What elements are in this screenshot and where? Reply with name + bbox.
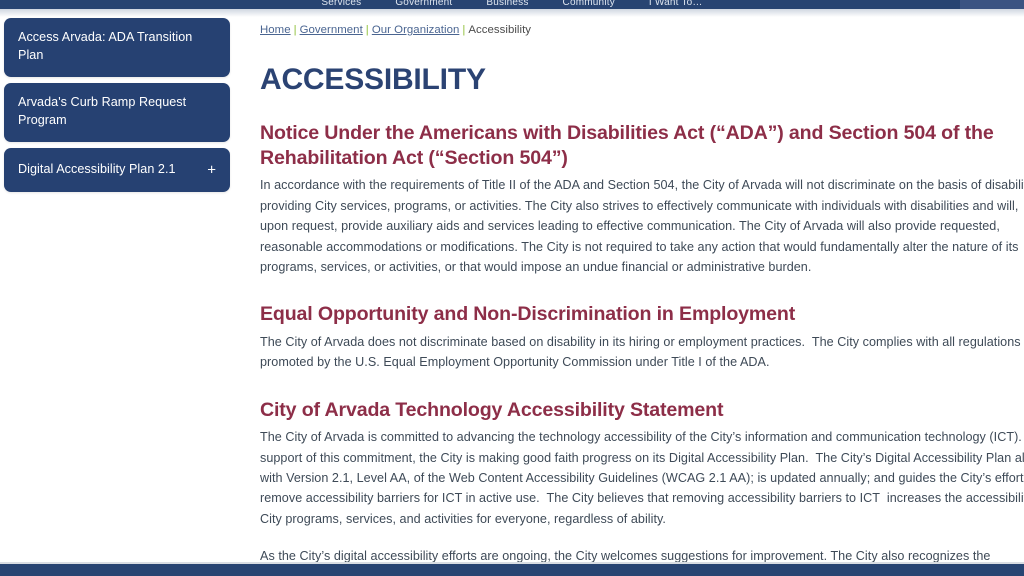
sidebar: Access Arvada: ADA Transition Plan Arvad…	[4, 18, 230, 198]
sidebar-item-label: Digital Accessibility Plan 2.1	[18, 161, 216, 179]
page-title: ACCESSIBILITY	[260, 64, 1024, 96]
section-paragraph-ada-notice: In accordance with the requirements of T…	[260, 175, 1024, 277]
section-paragraph-equal-opportunity: The City of Arvada does not discriminate…	[260, 332, 1024, 373]
topnav-shadow	[0, 9, 1024, 17]
sidebar-item-digital-accessibility-plan[interactable]: Digital Accessibility Plan 2.1 +	[4, 148, 230, 193]
section-heading-ada-notice: Notice Under the Americans with Disabili…	[260, 121, 1024, 172]
plus-icon[interactable]: +	[207, 162, 216, 177]
breadcrumb-item-current: Accessibility	[468, 24, 531, 36]
breadcrumb-item-our-organization[interactable]: Our Organization	[372, 24, 460, 36]
page-root: Services Government Business Community I…	[0, 0, 1024, 576]
main-content: Home|Government|Our Organization|Accessi…	[260, 18, 1024, 576]
breadcrumb: Home|Government|Our Organization|Accessi…	[260, 24, 1024, 36]
topnav-item-1[interactable]: Government	[395, 0, 452, 8]
top-navigation-items: Services Government Business Community I…	[0, 0, 1024, 9]
footer-bar	[0, 564, 1024, 576]
topnav-item-2[interactable]: Business	[486, 0, 528, 8]
top-navigation-bar: Services Government Business Community I…	[0, 0, 1024, 9]
section-paragraph-technology-1: The City of Arvada is committed to advan…	[260, 427, 1024, 529]
breadcrumb-separator: |	[291, 24, 300, 36]
topnav-item-3[interactable]: Community	[563, 0, 615, 8]
topnav-item-0[interactable]: Services	[321, 0, 361, 8]
section-heading-technology-statement: City of Arvada Technology Accessibility …	[260, 398, 1024, 423]
breadcrumb-item-government[interactable]: Government	[300, 24, 363, 36]
section-heading-equal-opportunity: Equal Opportunity and Non-Discrimination…	[260, 302, 1024, 327]
sidebar-item-ada-transition-plan[interactable]: Access Arvada: ADA Transition Plan	[4, 18, 230, 77]
sidebar-item-label: Access Arvada: ADA Transition Plan	[18, 29, 216, 65]
sidebar-item-curb-ramp-request[interactable]: Arvada's Curb Ramp Request Program	[4, 83, 230, 142]
topnav-item-4[interactable]: I Want To…	[649, 0, 703, 8]
breadcrumb-item-home[interactable]: Home	[260, 24, 291, 36]
sidebar-item-label: Arvada's Curb Ramp Request Program	[18, 94, 216, 130]
topnav-accent-block	[960, 0, 1024, 9]
breadcrumb-separator: |	[363, 24, 372, 36]
